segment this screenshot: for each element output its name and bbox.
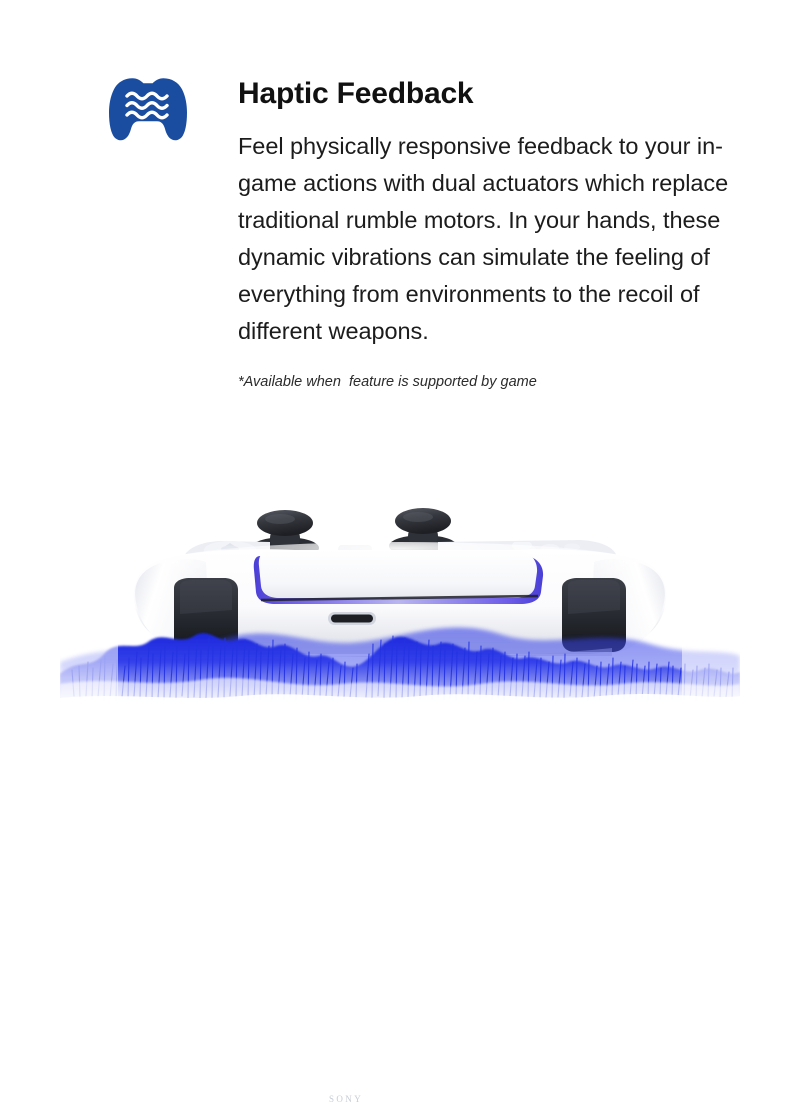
- blue-fur-effect: [60, 600, 740, 715]
- sony-brand-mark: SONY: [329, 1094, 363, 1104]
- page-title: Haptic Feedback: [238, 76, 730, 112]
- product-image-scene: SONY: [0, 470, 800, 720]
- touchpad: [254, 550, 543, 604]
- feature-text-block: Haptic Feedback Feel physically responsi…: [238, 76, 730, 392]
- feature-description: Feel physically responsive feedback to y…: [238, 128, 730, 350]
- gamepad-haptic-icon: [108, 76, 188, 142]
- feature-card: Haptic Feedback Feel physically responsi…: [0, 0, 800, 800]
- feature-footnote: *Available when feature is supported by …: [238, 372, 730, 392]
